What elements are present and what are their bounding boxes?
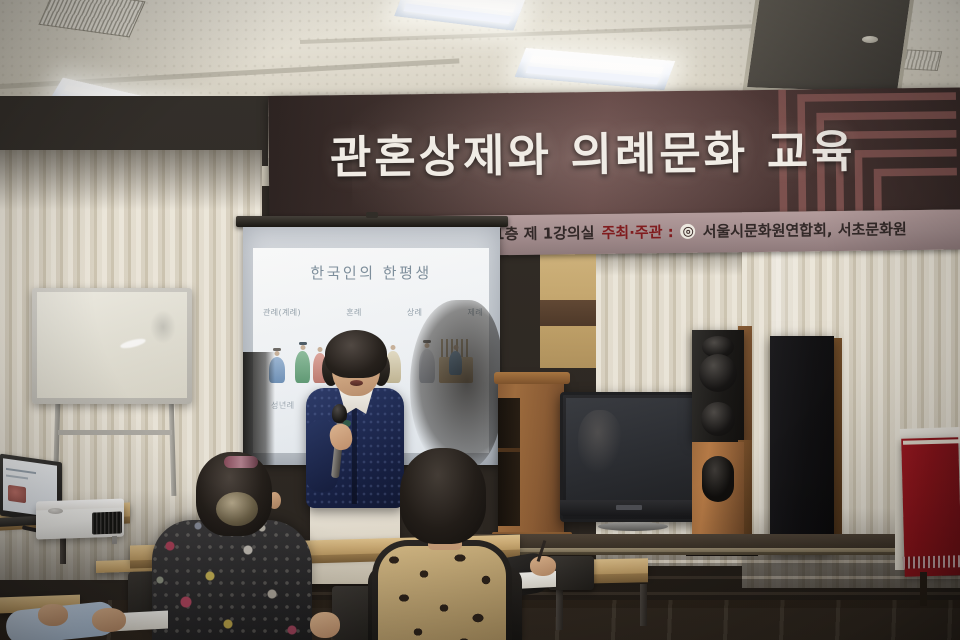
attendee-1-hand [310, 612, 340, 638]
television-logo [616, 505, 642, 510]
lectern-shelf [498, 448, 520, 452]
subbanner-organizations: 서울시문화원연합회, 서초문화원 [703, 218, 907, 241]
television-stand [598, 522, 668, 531]
lectern-shelf-cavity [498, 398, 520, 526]
air-vent-2-icon [742, 0, 915, 97]
screen-left-shadow [243, 352, 275, 465]
draped-table-leg [920, 572, 927, 606]
slide-label-0: 관례(계례) [263, 307, 301, 318]
attendee-1-hair-ornament [224, 456, 258, 468]
slide-label-2: 상례 [407, 307, 423, 318]
banner-title: 관혼상제와 의례문화 교육 [302, 114, 883, 186]
television-reflection [578, 410, 622, 474]
lectern-top [494, 372, 570, 384]
attendee-2-leopard-print-top [378, 546, 506, 640]
subbanner-location: 1층 제 1강의실 [494, 222, 595, 244]
attendee-3-hand [530, 556, 556, 576]
draped-table-fringe [903, 555, 960, 568]
projector-lens-icon [48, 508, 63, 514]
classroom-table-3-leg-left [556, 584, 563, 630]
flower-emblem-logo-icon [681, 224, 696, 239]
subbanner-host-label: 주최·주관 : [601, 221, 673, 243]
whiteboard-crossbar [58, 430, 172, 435]
projector-foot [112, 536, 117, 544]
event-banner: 관혼상제와 의례문화 교육 [268, 88, 960, 218]
slide-figure-2 [295, 339, 310, 383]
presenter-shadow [410, 300, 502, 470]
speaker-left-cabinet [692, 442, 744, 546]
whiteboard-smudge [150, 310, 176, 344]
lecture-hall-photo: 관혼상제와 의례문화 교육 1층 제 1강의실 주최·주관 : 서울시문화원연합… [0, 0, 960, 640]
slide-title: 한국인의 한평생 [253, 262, 489, 283]
presenter-jacket-placket [352, 408, 357, 504]
floor-standing-speaker-right [770, 336, 834, 554]
attendee-4-hand-right [92, 608, 126, 632]
attendee-1-hair-bun [216, 492, 258, 526]
attendee-1-floral-top [152, 520, 312, 640]
attendee-4-hand-left [38, 604, 68, 626]
whiteboard-surface [37, 292, 187, 398]
slide-label-1: 혼례 [346, 307, 362, 318]
presenter-hair [325, 330, 387, 378]
screen-mount-bracket [366, 212, 378, 218]
projector-vent-grille [92, 511, 122, 534]
laptop-screen-thumbnail [8, 485, 26, 504]
classroom-table-3-leg-right [640, 584, 647, 626]
attendee-2-head [400, 448, 486, 544]
smoke-detector-icon [862, 36, 878, 43]
floor-standing-speaker-left [692, 330, 744, 442]
presenter-mouth [350, 380, 363, 386]
